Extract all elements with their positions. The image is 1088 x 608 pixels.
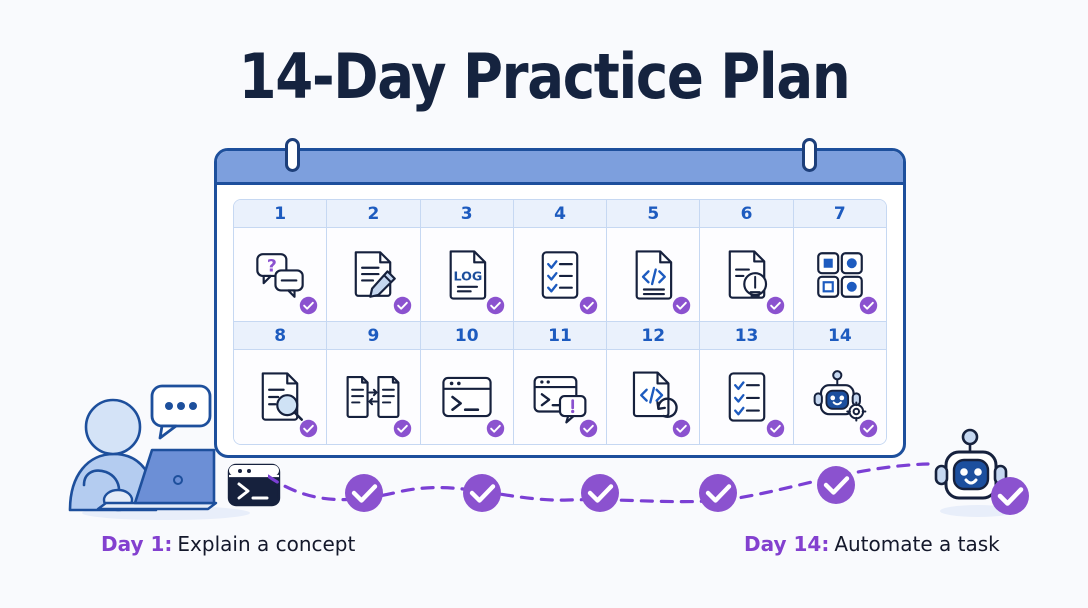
calendar-number-row-top: 1 2 3 4 5 6 7 — [234, 200, 886, 228]
terminal-alert-icon — [531, 368, 589, 426]
terminal-window-icon — [438, 368, 496, 426]
day-cell-1[interactable]: ? — [234, 228, 327, 322]
day-complete-badge-6 — [766, 296, 785, 315]
shapes-grid-icon — [811, 246, 869, 304]
day-number-4: 4 — [514, 200, 607, 228]
caption-right-day: Day 14: — [744, 532, 829, 556]
caption-left-day: Day 1: — [101, 532, 172, 556]
day-number-14: 14 — [794, 322, 886, 350]
day-cell-4[interactable] — [514, 228, 607, 322]
day-cell-12[interactable] — [607, 350, 700, 444]
day-number-8: 8 — [234, 322, 327, 350]
day-number-1: 1 — [234, 200, 327, 228]
calendar-ring-right — [802, 138, 817, 172]
path-checkpoint-5 — [817, 466, 855, 504]
day-number-12: 12 — [607, 322, 700, 350]
code-document-icon — [624, 246, 682, 304]
day-complete-badge-4 — [579, 296, 598, 315]
calendar-header-bar — [217, 151, 903, 185]
day-complete-badge-9 — [393, 419, 412, 438]
day-cell-6[interactable] — [700, 228, 793, 322]
day-cell-14[interactable] — [794, 350, 886, 444]
caption-left: Day 1:Explain a concept — [101, 532, 355, 556]
day-complete-badge-8 — [299, 419, 318, 438]
day-cell-10[interactable] — [421, 350, 514, 444]
day-number-11: 11 — [514, 322, 607, 350]
checklist-tall-icon — [718, 368, 776, 426]
day-cell-11[interactable] — [514, 350, 607, 444]
day-cell-13[interactable] — [700, 350, 793, 444]
caption-left-text: Explain a concept — [177, 532, 355, 556]
day-number-10: 10 — [421, 322, 514, 350]
caption-right-text: Automate a task — [834, 532, 999, 556]
day-number-13: 13 — [700, 322, 793, 350]
day-number-2: 2 — [327, 200, 420, 228]
document-pencil-icon — [344, 246, 402, 304]
day-number-5: 5 — [607, 200, 700, 228]
day-complete-badge-14 — [859, 419, 878, 438]
day-number-9: 9 — [327, 322, 420, 350]
day-cell-9[interactable] — [327, 350, 420, 444]
path-checkpoint-3 — [581, 474, 619, 512]
day-complete-badge-10 — [486, 419, 505, 438]
robot-gear-icon — [811, 368, 869, 426]
day-complete-badge-3 — [486, 296, 505, 315]
calendar-number-row-bottom: 8 9 10 11 12 13 14 — [234, 322, 886, 350]
day-cell-3[interactable]: LOG — [421, 228, 514, 322]
calendar-icon-row-bottom — [234, 350, 886, 444]
document-lightbulb-icon — [718, 246, 776, 304]
calendar-grid: 1 2 3 4 5 6 7 ? — [233, 199, 887, 445]
robot-complete-badge — [991, 477, 1029, 515]
caption-right: Day 14:Automate a task — [744, 532, 1000, 556]
day-complete-badge-1 — [299, 296, 318, 315]
practice-plan-calendar: 1 2 3 4 5 6 7 ? — [214, 148, 906, 458]
day-complete-badge-11 — [579, 419, 598, 438]
path-checkpoint-1 — [345, 474, 383, 512]
log-document-icon: LOG — [438, 246, 496, 304]
day-number-7: 7 — [794, 200, 886, 228]
day-complete-badge-12 — [672, 419, 691, 438]
path-checkpoint-4 — [699, 474, 737, 512]
day-complete-badge-5 — [672, 296, 691, 315]
day-cell-7[interactable] — [794, 228, 886, 322]
log-label: LOG — [453, 268, 482, 283]
poster-canvas: 14-Day Practice Plan 1 2 3 4 5 6 7 — [0, 0, 1088, 608]
calendar-ring-left — [285, 138, 300, 172]
day-complete-badge-2 — [393, 296, 412, 315]
code-refresh-icon — [624, 368, 682, 426]
path-checkpoint-2 — [463, 474, 501, 512]
day-complete-badge-13 — [766, 419, 785, 438]
day-cell-2[interactable] — [327, 228, 420, 322]
calendar-icon-row-top: ? — [234, 228, 886, 322]
page-title: 14-Day Practice Plan — [65, 44, 1022, 109]
checklist-icon — [531, 246, 589, 304]
day-cell-5[interactable] — [607, 228, 700, 322]
day-number-3: 3 — [421, 200, 514, 228]
documents-exchange-icon — [344, 368, 402, 426]
speech-bubbles-question-icon: ? — [251, 246, 309, 304]
dashed-progress-path — [268, 448, 968, 528]
robot-head-illustration — [928, 428, 1032, 518]
day-number-6: 6 — [700, 200, 793, 228]
day-complete-badge-7 — [859, 296, 878, 315]
